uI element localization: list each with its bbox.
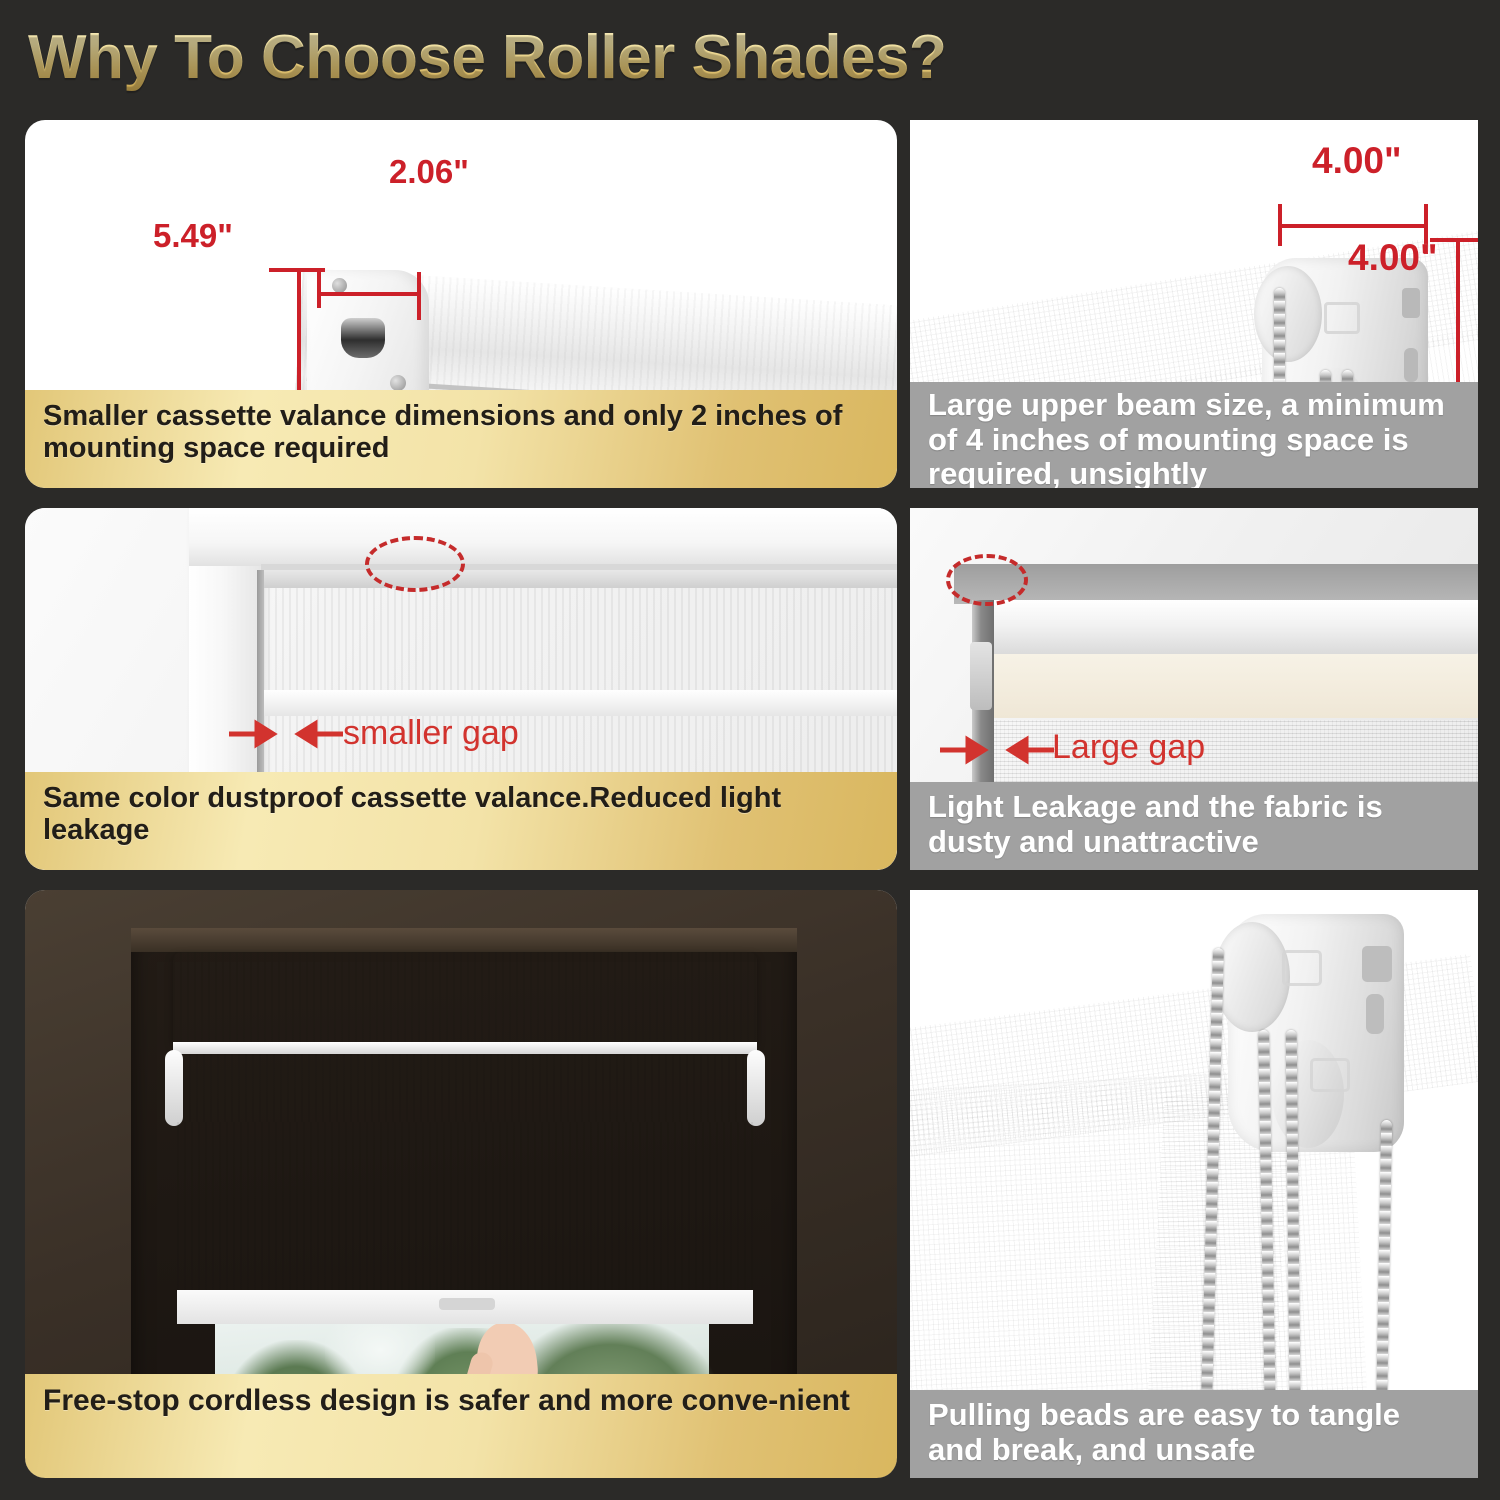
bracket-emblem-1 — [1282, 950, 1322, 986]
panel-free-stop-cordless: Free-stop cordless design is safer and m… — [25, 890, 897, 1478]
infographic-root: Why To Choose Roller Shades? 5.49" 2.06 — [0, 0, 1500, 1500]
caption-smaller-cassette: Smaller cassette valance dimensions and … — [25, 390, 897, 488]
cassette-head-rail — [261, 570, 897, 588]
width-dimension-tick-left — [317, 272, 321, 308]
height-dimension-label: 5.49" — [153, 217, 233, 255]
panel-smaller-cassette: 5.49" 2.06" Smaller cassette valance dim… — [25, 120, 897, 488]
gap-callout-label-smaller: smaller gap — [343, 714, 519, 753]
bracket-roll-disc — [1254, 266, 1322, 362]
bracket-hook-piece — [970, 642, 992, 710]
panel-dustproof-cassette: smaller gap Same color dustproof cassett… — [25, 508, 897, 870]
shade-roll-end-right — [747, 1050, 765, 1126]
panel-large-upper-beam: 4.00" 4.00" Large upper beam size, a min… — [910, 120, 1478, 488]
caption-light-leakage: Light Leakage and the fabric is dusty an… — [910, 782, 1478, 870]
shade-rail-divider — [261, 690, 897, 716]
bracket-disc-upper — [1214, 922, 1290, 1032]
bracket-mount-slot-upper — [1362, 946, 1392, 982]
shade-fabric-main — [177, 1122, 753, 1294]
width-dimension-label: 2.06" — [389, 153, 469, 191]
width-dimension-line — [317, 292, 421, 296]
cassette-valance-head — [173, 952, 757, 1044]
panel-pulling-beads: Pulling beads are easy to tangle and bre… — [910, 890, 1478, 1478]
fabric-cream-band — [988, 654, 1478, 718]
window-frame-top — [189, 508, 897, 566]
caption-free-stop-cordless: Free-stop cordless design is safer and m… — [25, 1374, 897, 1478]
beam-width-tick-left — [1278, 204, 1282, 246]
window-recess-top-lintel — [131, 928, 797, 952]
bracket-disc-lower — [1272, 1040, 1344, 1148]
bracket-mount-slot-mid — [1366, 994, 1384, 1034]
caption-large-upper-beam: Large upper beam size, a minimum of 4 in… — [910, 382, 1478, 488]
bracket-slot-upper — [1402, 288, 1420, 318]
caption-dustproof-cassette: Same color dustproof cassette valance.Re… — [25, 772, 897, 870]
width-dimension-tick-right — [417, 272, 421, 320]
large-gap-highlight-circle — [946, 554, 1028, 606]
valance-bottom-lip — [173, 1042, 757, 1054]
bracket-slot-lower — [1404, 348, 1418, 382]
end-cap-screw-top — [332, 278, 347, 293]
beam-height-dimension-label: 4.00" — [1348, 237, 1438, 279]
bottom-rail-grip — [439, 1298, 495, 1310]
shade-roll-end-left — [165, 1050, 183, 1126]
beam-width-dimension-label: 4.00" — [1312, 140, 1402, 182]
large-gap-callout-arrows — [938, 730, 1058, 770]
end-cap-screw-mid — [390, 375, 406, 391]
shade-fabric-upper — [261, 588, 897, 692]
ceiling-shadow-band — [954, 564, 1478, 604]
panel-light-leakage: Large gap Light Leakage and the fabric i… — [910, 508, 1478, 870]
beam-width-dimension-line — [1278, 224, 1428, 228]
roller-tube — [972, 600, 1478, 656]
bracket-emblem-upper — [1324, 302, 1360, 334]
gap-highlight-circle — [365, 536, 465, 592]
gap-callout-label-large: Large gap — [1052, 728, 1205, 767]
bracket-emblem-2 — [1310, 1058, 1350, 1092]
end-cap-slot — [341, 318, 385, 358]
caption-pulling-beads: Pulling beads are easy to tangle and bre… — [910, 1390, 1478, 1478]
shade-roll-visible — [175, 1054, 755, 1122]
gap-callout-arrows — [227, 714, 347, 754]
page-title: Why To Choose Roller Shades? — [28, 22, 946, 93]
